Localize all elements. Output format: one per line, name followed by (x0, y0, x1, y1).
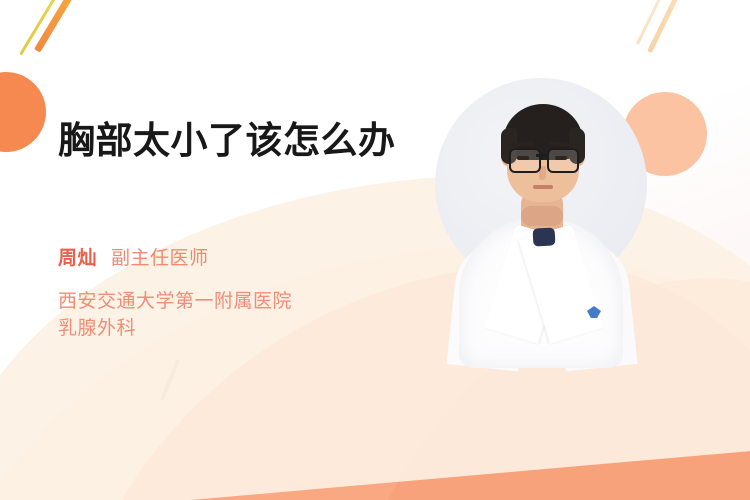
doctor-portrait (435, 78, 647, 360)
portrait-eye-right (555, 156, 567, 160)
glasses-lens-left-icon (509, 148, 541, 173)
doctor-name: 周灿 (58, 248, 97, 269)
portrait-bottom-fade (435, 322, 647, 368)
glasses-lens-right-icon (547, 148, 579, 173)
doctor-department: 乳腺外科 (58, 315, 136, 342)
glasses-bridge-icon (536, 154, 548, 157)
page-title: 胸部太小了该怎么办 (58, 118, 408, 164)
portrait-tie-knot (533, 227, 556, 246)
doctor-name-row: 周灿副主任医师 (58, 246, 209, 272)
portrait-eye-left (517, 156, 529, 160)
doctor-title: 副主任医师 (111, 248, 209, 269)
doctor-hospital: 西安交通大学第一附属医院 (58, 288, 292, 315)
portrait-neck-shadow (521, 206, 563, 226)
portrait-mouth (533, 185, 553, 189)
doctor-info-card: 胸部太小了该怎么办 周灿副主任医师 西安交通大学第一附属医院 乳腺外科 (0, 0, 750, 500)
